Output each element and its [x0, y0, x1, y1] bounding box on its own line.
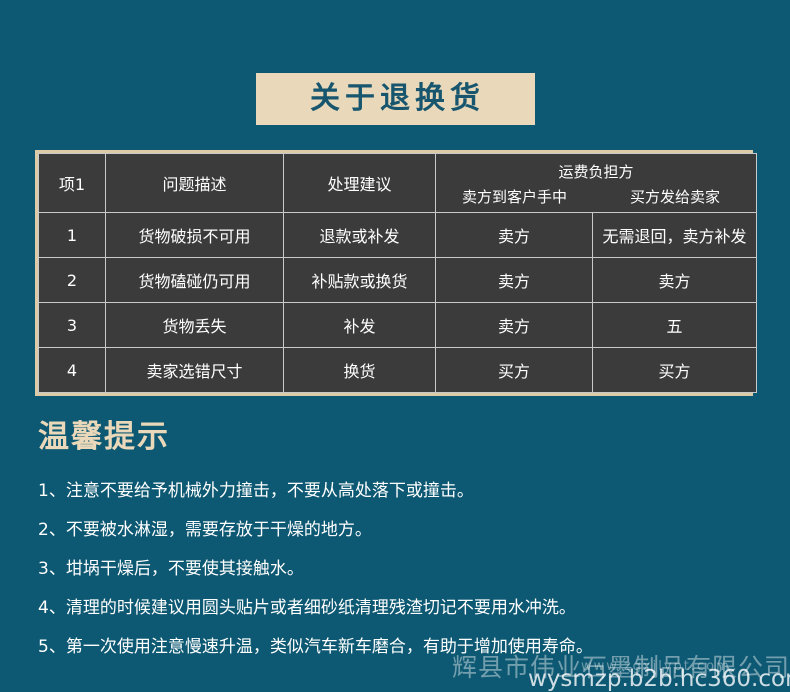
row-ship-seller-to-customer: 卖方: [436, 258, 593, 303]
row-index: 4: [39, 348, 106, 393]
row-description: 卖家选错尺寸: [106, 348, 284, 393]
header-shipping-group: 运费负担方 卖方到客户手中 买方发给卖家: [436, 154, 757, 213]
header-advice: 处理建议: [284, 154, 436, 213]
tip-item: 2、不要被水淋湿，需要存放于干燥的地方。: [38, 511, 778, 550]
table-row: 3 货物丢失 补发 卖方 五: [39, 303, 757, 348]
title-banner-container: 关于退换货: [0, 73, 790, 125]
table-row: 1 货物破损不可用 退款或补发 卖方 无需退回，卖方补发: [39, 213, 757, 258]
row-ship-buyer-to-seller: 五: [593, 303, 757, 348]
header-shipping-sub-row: 卖方到客户手中 买方发给卖家: [436, 184, 756, 210]
table-body: 1 货物破损不可用 退款或补发 卖方 无需退回，卖方补发 2 货物磕碰仍可用 补…: [39, 213, 757, 393]
header-shipping-sub-1: 卖方到客户手中: [436, 184, 593, 210]
row-advice: 换货: [284, 348, 436, 393]
header-shipping-group-label: 运费负担方: [436, 160, 756, 184]
table-header-row: 项1 问题描述 处理建议 运费负担方 卖方到客户手中 买方发给卖家: [39, 154, 757, 213]
row-description: 货物磕碰仍可用: [106, 258, 284, 303]
tip-item: 3、坩埚干燥后，不要使其接触水。: [38, 550, 778, 589]
row-ship-buyer-to-seller: 卖方: [593, 258, 757, 303]
row-index: 3: [39, 303, 106, 348]
refund-policy-table-container: 项1 问题描述 处理建议 运费负担方 卖方到客户手中 买方发给卖家 1 货物破损…: [35, 150, 753, 396]
watermark-website-marketplace: wysmzp.b2b.hc360.com: [528, 666, 790, 692]
row-index: 1: [39, 213, 106, 258]
row-advice: 退款或补发: [284, 213, 436, 258]
row-description: 货物破损不可用: [106, 213, 284, 258]
header-description: 问题描述: [106, 154, 284, 213]
refund-policy-table: 项1 问题描述 处理建议 运费负担方 卖方到客户手中 买方发给卖家 1 货物破损…: [38, 153, 757, 393]
row-ship-seller-to-customer: 卖方: [436, 213, 593, 258]
tips-list: 1、注意不要给予机械外力撞击，不要从高处落下或撞击。 2、不要被水淋湿，需要存放…: [38, 472, 778, 667]
table-head: 项1 问题描述 处理建议 运费负担方 卖方到客户手中 买方发给卖家: [39, 154, 757, 213]
tips-heading: 温馨提示: [38, 411, 170, 456]
page-title-banner: 关于退换货: [256, 73, 535, 125]
tip-item: 1、注意不要给予机械外力撞击，不要从高处落下或撞击。: [38, 472, 778, 511]
table-row: 4 卖家选错尺寸 换货 买方 买方: [39, 348, 757, 393]
row-advice: 补贴款或换货: [284, 258, 436, 303]
row-index: 2: [39, 258, 106, 303]
row-ship-seller-to-customer: 买方: [436, 348, 593, 393]
tip-item: 4、清理的时候建议用圆头贴片或者细砂纸清理残渣切记不要用水冲洗。: [38, 589, 778, 628]
table-row: 2 货物磕碰仍可用 补贴款或换货 卖方 卖方: [39, 258, 757, 303]
row-advice: 补发: [284, 303, 436, 348]
row-description: 货物丢失: [106, 303, 284, 348]
header-item: 项1: [39, 154, 106, 213]
header-shipping-sub-2: 买方发给卖家: [593, 184, 757, 210]
row-ship-buyer-to-seller: 买方: [593, 348, 757, 393]
row-ship-seller-to-customer: 卖方: [436, 303, 593, 348]
row-ship-buyer-to-seller: 无需退回，卖方补发: [593, 213, 757, 258]
